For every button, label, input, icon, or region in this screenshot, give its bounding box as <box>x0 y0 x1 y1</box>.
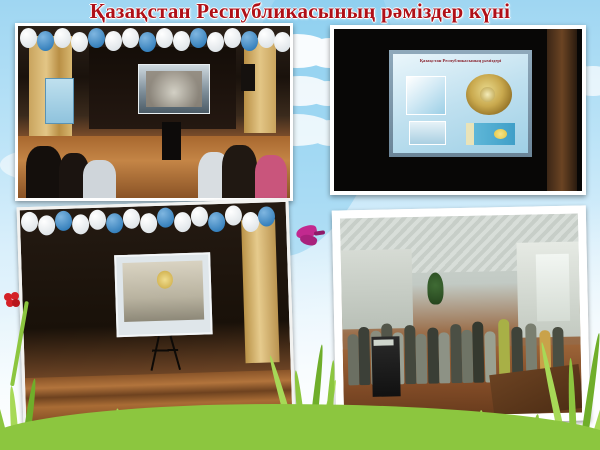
flower-icon <box>4 292 20 308</box>
photo-crowd-image <box>340 214 582 418</box>
kazakhstan-emblem-icon <box>466 74 512 116</box>
butterfly-icon <box>296 226 326 248</box>
page-title: Қазақстан Республикасының рәміздер күні <box>0 0 600 23</box>
kazakhstan-flag-icon <box>466 123 515 145</box>
slide-title-text: Қазақстан Республикасының рәміздері <box>403 58 517 64</box>
photo-slide-symbols[interactable]: Қазақстан Республикасының рәміздері <box>330 25 586 195</box>
photo-hall-audience[interactable] <box>15 23 293 201</box>
balloon-garland <box>18 26 290 54</box>
collage-canvas: Қазақстан Республикасының рәміздері <box>0 0 600 450</box>
photo-stage-screen-image <box>20 202 293 426</box>
photo-slide-symbols-image: Қазақстан Республикасының рәміздері <box>334 29 582 191</box>
photo-hall-audience-image <box>18 26 290 198</box>
photo-stage-screen[interactable] <box>17 199 296 429</box>
